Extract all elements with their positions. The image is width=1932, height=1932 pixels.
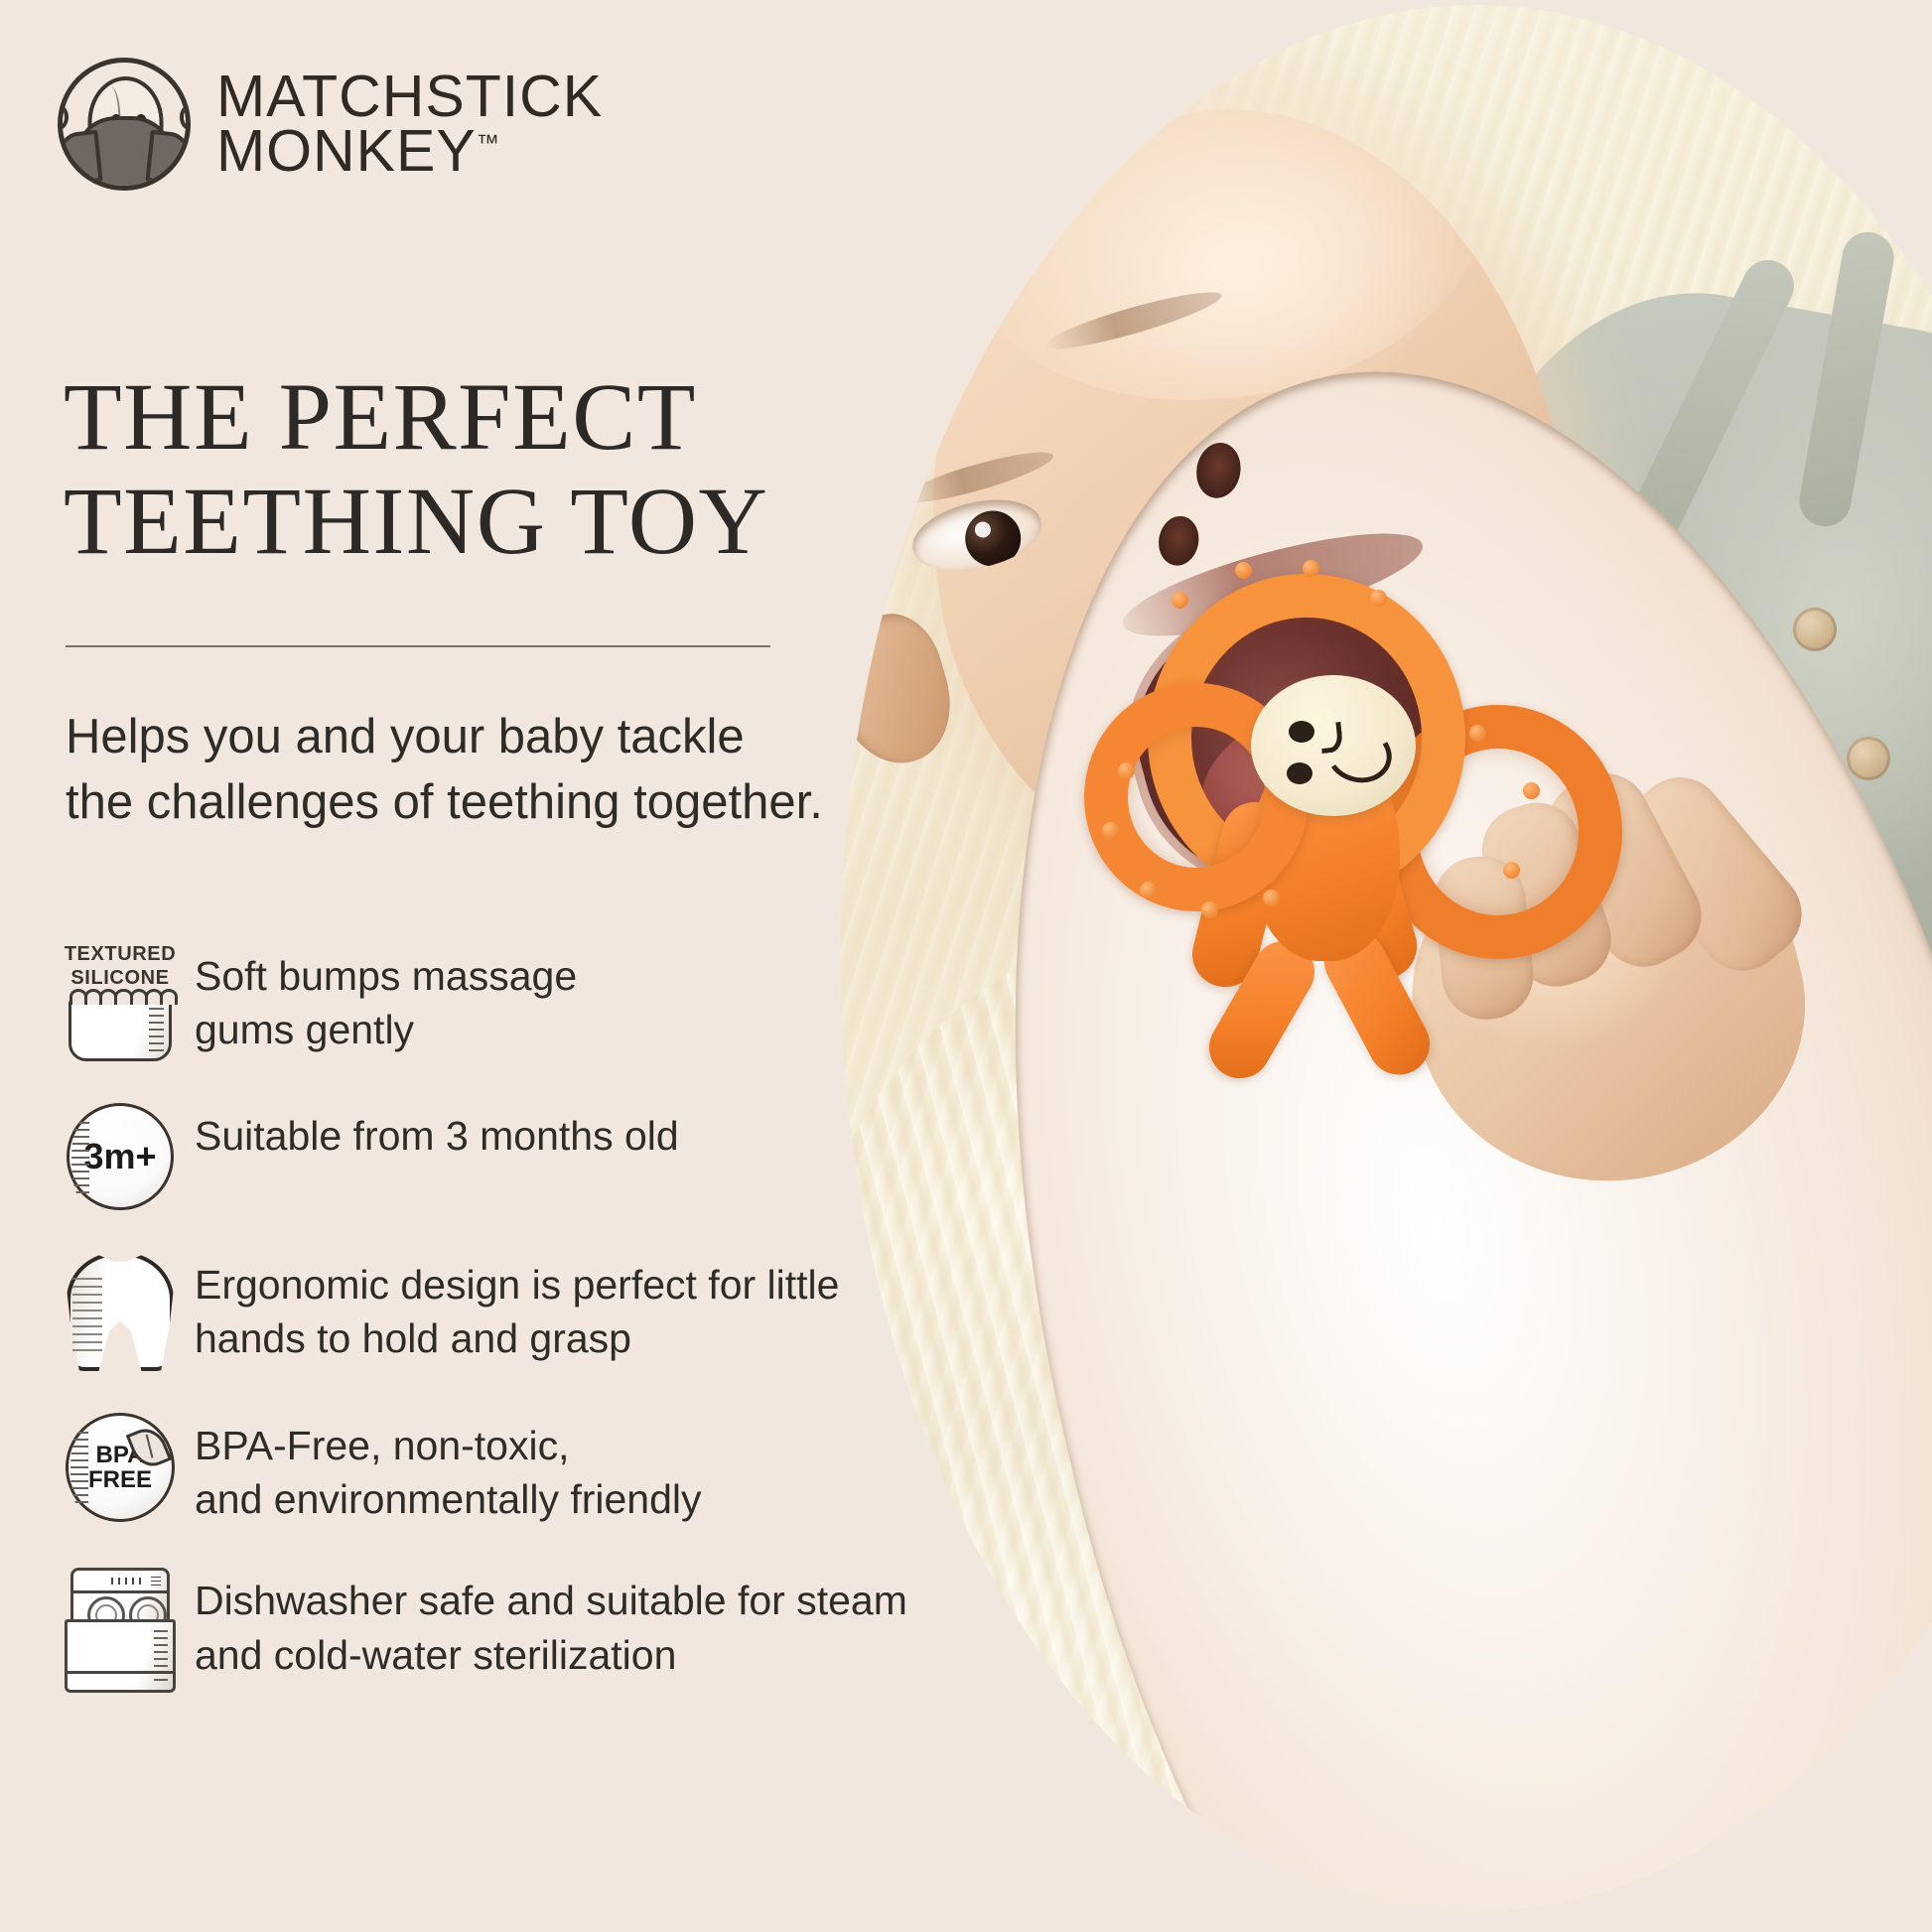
monkey-logo-icon [58,58,191,191]
silicone-label-line2: SILICONE [70,967,169,989]
trademark-symbol: ™ [477,129,499,155]
feature-text: Ergonomic design is perfect for little h… [183,1252,839,1365]
feature-text-line1: Soft bumps massage [195,953,577,999]
feature-icon-slot [58,1252,183,1371]
silicone-bumps [69,989,175,1005]
feature-text-line2: gums gently [195,1007,414,1052]
dishwasher-door-line [68,1671,173,1674]
feature-text-line1: Suitable from 3 months old [195,1113,679,1159]
logo-monkey-arm [145,130,191,186]
logo-monkey-body [78,116,170,191]
dishwasher-controls [111,1578,145,1585]
teether-monkey-face [1251,675,1416,816]
feature-text-line1: BPA-Free, non-toxic, [195,1423,570,1468]
badge-tick-marks [70,1432,88,1507]
feature-item: Ergonomic design is perfect for little h… [58,1252,951,1371]
logo-monkey-ear [180,104,191,130]
feature-text-line1: Ergonomic design is perfect for little [195,1262,839,1308]
subtitle: Helps you and your baby tackle the chall… [66,705,860,835]
feature-item: 3m+ Suitable from 3 months old [58,1103,951,1210]
feature-text-line1: Dishwasher safe and suitable for steam [195,1578,907,1623]
teether-face-eye [1289,721,1314,743]
feature-list: TEXTURED SILICONE Soft bumps massage gum… [58,943,951,1734]
logo-monkey-ear [58,104,69,130]
brand-logo: MATCHSTICK MONKEY™ [58,58,603,191]
headline-line2: TEETHING TOY [64,468,768,574]
monkey-teether-product [1076,556,1632,1023]
feature-icon-slot: 3m+ [58,1103,183,1210]
subtitle-line1: Helps you and your baby tackle [66,710,745,763]
feature-text: Soft bumps massage gums gently [183,943,577,1056]
bpa-free-icon: BPA FREE [66,1413,175,1522]
headline-line1: THE PERFECT [64,363,697,470]
silicone-shape [69,998,172,1061]
teether-bump [1140,882,1157,898]
feature-item: BPA FREE BPA-Free, non-toxic, and enviro… [58,1413,951,1526]
feature-item: Dishwasher safe and suitable for steam a… [58,1568,951,1693]
brand-name-line2-text: MONKEY [216,118,477,184]
teether-bump [1469,725,1486,742]
teether-bump [1303,560,1319,577]
teether-bump [1523,782,1540,799]
silicone-label-line1: TEXTURED [65,943,177,965]
feature-icon-slot: BPA FREE [58,1413,183,1522]
romper-button [1847,737,1890,780]
teether-face-eye [1287,762,1312,784]
teether-bump [1370,590,1387,607]
content-column: MATCHSTICK MONKEY™ THE PERFECT TEETHING … [0,0,973,1932]
teether-bump [1102,822,1119,839]
dishwasher-panel-line [73,1590,167,1593]
feature-text: Dishwasher safe and suitable for steam a… [183,1568,907,1681]
feature-text: Suitable from 3 months old [183,1103,679,1163]
teether-bump [1201,901,1218,918]
age-badge-text: 3m+ [83,1136,156,1177]
dishwasher-body [70,1568,170,1625]
feature-text-line2: hands to hold and grasp [195,1315,631,1361]
teether-bump [1503,862,1520,879]
teether-bump [1118,762,1135,779]
brand-name-line1: MATCHSTICK [216,69,603,124]
dishwasher-marks [151,1577,161,1586]
dishwasher-icon [65,1568,176,1693]
bpa-badge-line2: FREE [88,1467,152,1492]
dishwasher-door [65,1619,176,1693]
baby-nostril [1192,439,1245,501]
teether-bump [1172,592,1188,609]
divider [66,645,770,647]
textured-silicone-icon: TEXTURED SILICONE [58,943,183,1061]
subtitle-line2: the challenges of teething together. [66,775,823,829]
tooth-icon [67,1252,174,1371]
feature-item: TEXTURED SILICONE Soft bumps massage gum… [58,943,951,1061]
feature-text-line2: and environmentally friendly [195,1476,702,1522]
dishwasher-ridge [154,1630,168,1686]
textured-silicone-label: TEXTURED SILICONE [58,943,183,990]
age-badge-3m-icon: 3m+ [67,1103,174,1210]
photo-background [820,0,1932,1932]
badge-tick-marks [71,1122,89,1197]
silicone-ridge [149,1008,164,1055]
page-title: THE PERFECT TEETHING TOY [64,365,888,573]
feature-icon-slot [58,1568,183,1693]
feature-icon-slot: TEXTURED SILICONE [58,943,183,1061]
tooth-shading [72,1278,102,1357]
feature-text: BPA-Free, non-toxic, and environmentally… [183,1413,702,1526]
teether-bump [1235,562,1252,579]
teether-bump [1263,890,1280,906]
product-photo [820,0,1932,1932]
brand-wordmark: MATCHSTICK MONKEY™ [216,69,603,179]
feature-text-line2: and cold-water sterilization [195,1632,676,1678]
brand-name-line2: MONKEY™ [216,124,603,179]
logo-monkey-arm [58,130,103,186]
romper-button [1793,608,1837,651]
